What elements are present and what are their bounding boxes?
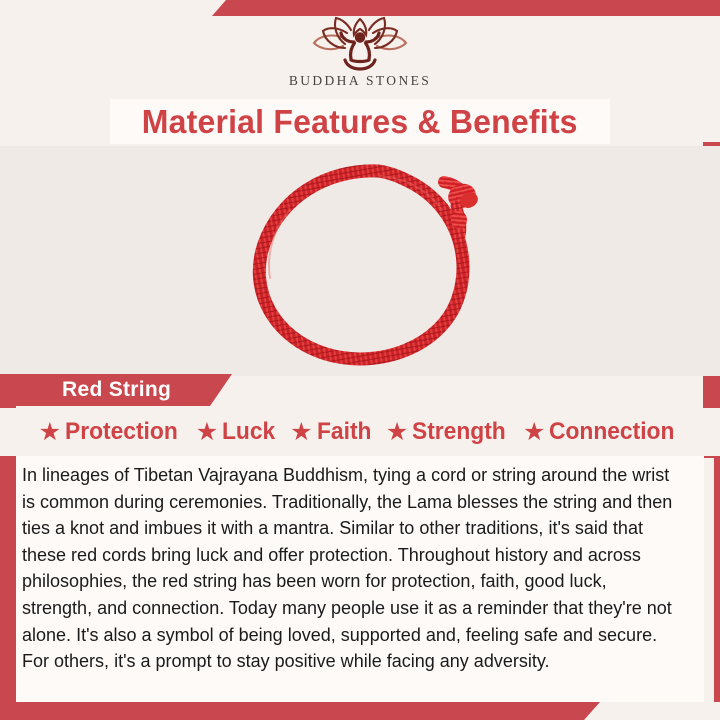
- product-name-label: Red String: [62, 378, 171, 402]
- star-icon: ★: [290, 420, 312, 445]
- product-image-area: [0, 146, 720, 376]
- lotus-meditation-icon: [301, 16, 419, 72]
- bottom-red-band: [0, 702, 600, 720]
- benefit-label: Luck: [222, 418, 275, 446]
- title-banner: Material Features & Benefits: [110, 99, 610, 144]
- top-red-band: [212, 0, 720, 16]
- benefit-label: Faith: [317, 418, 371, 446]
- description-panel: In lineages of Tibetan Vajrayana Buddhis…: [16, 456, 704, 702]
- benefit-item-strength: ★ Strength: [386, 418, 511, 446]
- benefits-row: ★ Protection ★ Luck ★ Faith ★ Strength ★…: [0, 408, 720, 456]
- page-title: Material Features & Benefits: [142, 103, 578, 141]
- star-icon: ★: [523, 420, 545, 445]
- product-name-ribbon: Red String: [0, 374, 232, 406]
- benefit-item-faith: ★ Faith: [290, 418, 374, 446]
- brand-name: BUDDHA STONES: [289, 73, 431, 89]
- infographic-page: BUDDHA STONES Material Features & Benefi…: [0, 0, 720, 720]
- brand-logo: BUDDHA STONES: [0, 16, 720, 96]
- benefit-item-connection: ★ Connection: [523, 418, 681, 446]
- red-braided-string-bracelet-icon: [230, 158, 500, 370]
- benefit-label: Connection: [549, 418, 674, 446]
- right-red-bar-lower: [714, 452, 720, 702]
- benefit-label: Strength: [412, 418, 506, 446]
- benefit-label: Protection: [65, 418, 178, 446]
- benefit-item-protection: ★ Protection: [39, 418, 184, 446]
- description-text: In lineages of Tibetan Vajrayana Buddhis…: [22, 462, 680, 675]
- star-icon: ★: [196, 420, 218, 445]
- star-icon: ★: [386, 420, 408, 445]
- benefit-item-luck: ★ Luck: [196, 418, 278, 446]
- star-icon: ★: [39, 420, 61, 445]
